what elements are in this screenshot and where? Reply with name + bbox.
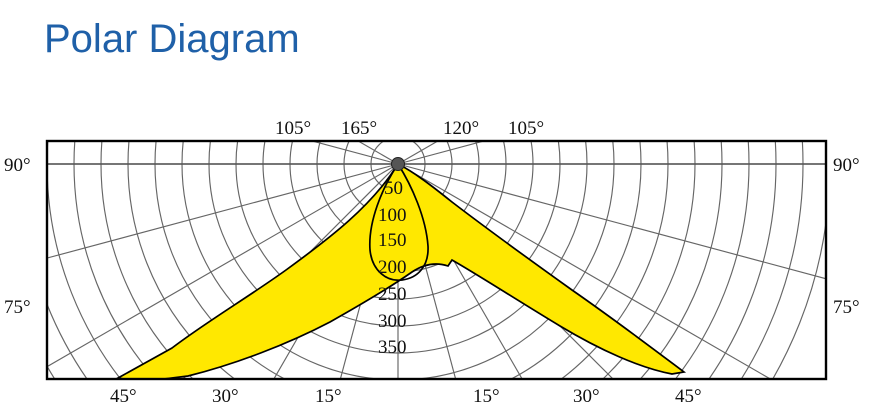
polar-center-marker	[392, 158, 405, 171]
right-angle-label-90: 90°	[833, 155, 860, 176]
left-angle-labels: 90° 75°	[4, 155, 31, 318]
right-angle-labels: 90° 75°	[833, 155, 860, 318]
bottom-angle-label-15-left: 15°	[315, 386, 342, 407]
radial-label-350: 350	[378, 337, 407, 358]
polar-diagram-chart: 50 100 150 200 250 300 350 105° 165° 120…	[0, 110, 885, 416]
bottom-angle-labels: 45° 30° 15° 15° 30° 45°	[110, 386, 702, 407]
bottom-angle-label-15-right: 15°	[473, 386, 500, 407]
bottom-angle-label-30-right: 30°	[573, 386, 600, 407]
left-angle-label-75: 75°	[4, 297, 31, 318]
bottom-angle-label-30-left: 30°	[212, 386, 239, 407]
radial-label-100: 100	[378, 205, 407, 226]
top-angle-label-165: 165°	[341, 118, 377, 139]
left-angle-label-90: 90°	[4, 155, 31, 176]
radial-label-50: 50	[384, 178, 403, 199]
bottom-angle-label-45-right: 45°	[675, 386, 702, 407]
top-angle-label-120: 120°	[443, 118, 479, 139]
radial-label-300: 300	[378, 311, 407, 332]
top-angle-label-105-right: 105°	[508, 118, 544, 139]
radial-label-150: 150	[378, 230, 407, 251]
radial-scale-labels: 50 100 150 200 250 300 350	[378, 178, 407, 358]
page-title: Polar Diagram	[44, 16, 300, 62]
right-angle-label-75: 75°	[833, 297, 860, 318]
bottom-angle-label-45-left: 45°	[110, 386, 137, 407]
radial-label-200: 200	[378, 257, 407, 278]
top-angle-labels: 105° 165° 120° 105°	[275, 118, 544, 139]
top-angle-label-105-left: 105°	[275, 118, 311, 139]
radial-label-250: 250	[378, 284, 407, 305]
polar-plot-svg: 50 100 150 200 250 300 350 105° 165° 120…	[0, 110, 885, 416]
